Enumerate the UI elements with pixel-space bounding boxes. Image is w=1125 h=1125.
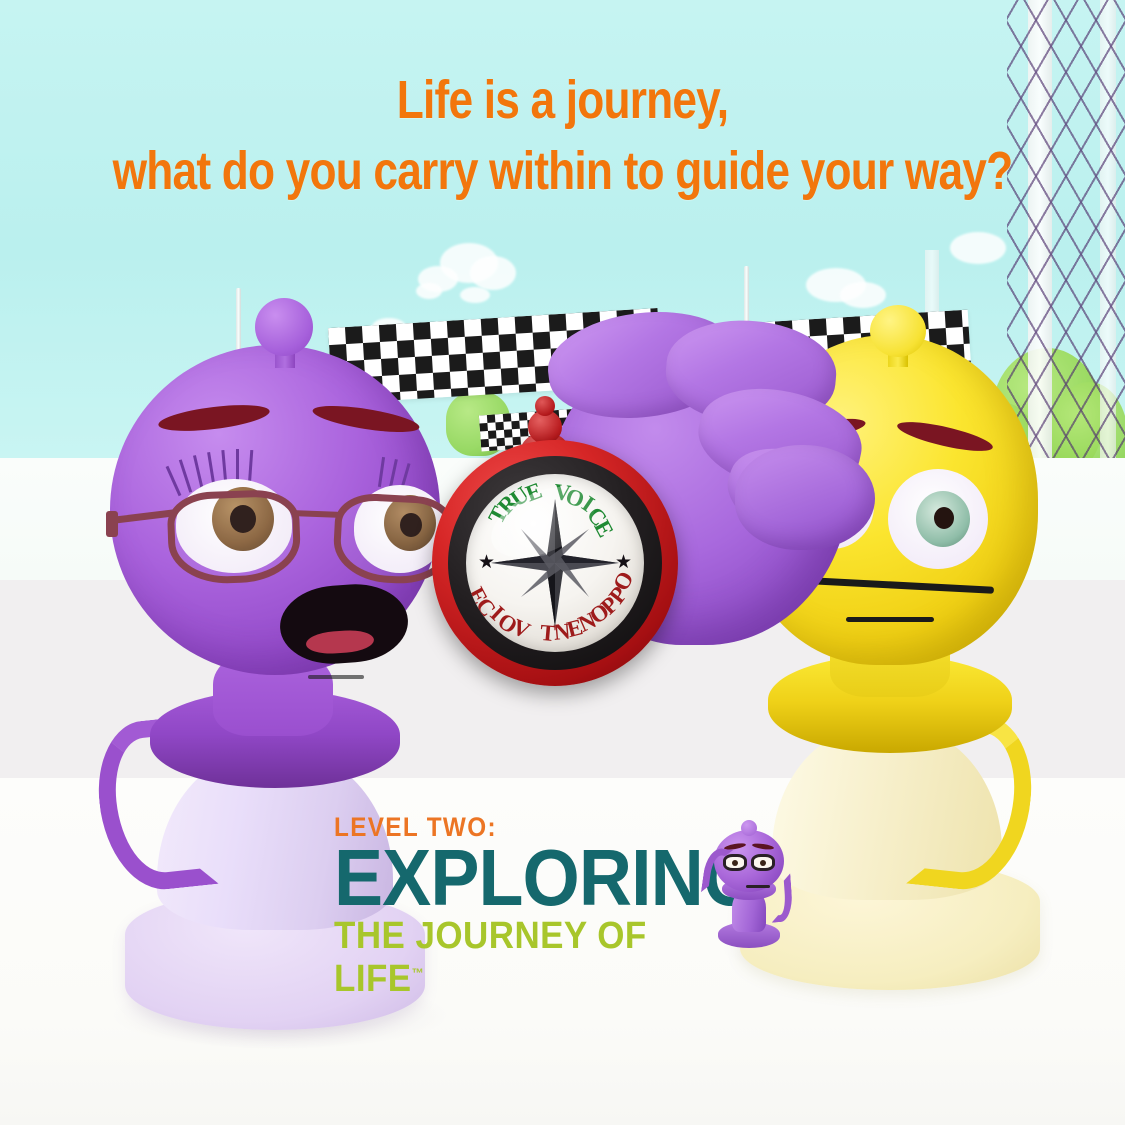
glasses-bridge (294, 510, 340, 518)
cloud-icon (470, 256, 516, 290)
chin-line (308, 675, 364, 679)
eyelash-icon (389, 459, 398, 487)
logo-main-label: EXPLORING (334, 844, 693, 913)
trademark-icon: ™ (412, 965, 424, 980)
cloud-icon (950, 232, 1006, 264)
compass-pendant-bulb (535, 396, 555, 416)
compass-rose-icon (485, 493, 625, 633)
compass-badge[interactable]: TRUE VOICE OPPONENT VOICE ★ ★ (432, 440, 678, 686)
mini-knob (741, 820, 757, 836)
mini-mouth (746, 885, 770, 888)
eyelash-icon (179, 459, 192, 492)
glasses-temple-hinge (106, 511, 118, 537)
pawn-head (110, 345, 440, 675)
logo-sub-label: THE JOURNEY OF LIFE (334, 915, 647, 1000)
mouth-open (277, 581, 410, 668)
compass-face: TRUE VOICE OPPONENT VOICE ★ ★ (466, 474, 644, 652)
eyebrow-right-icon (311, 401, 421, 438)
eyebrow-right-icon (895, 416, 995, 457)
eyebrow-left-icon (157, 400, 271, 435)
mini-eyebrow-right-icon (752, 842, 774, 850)
glasses-lens-left (166, 489, 301, 586)
pupil-right (934, 507, 954, 529)
mini-eye-left (732, 860, 738, 866)
mini-mascot[interactable] (700, 818, 800, 958)
fist-thumb (735, 445, 875, 550)
scene-canvas: TRUE VOICE OPPONENT VOICE ★ ★ (0, 0, 1125, 1125)
logo-sub-wrap: THE JOURNEY OF LIFE™ (334, 915, 693, 1001)
pawn-knob (255, 298, 313, 356)
program-logo[interactable]: LEVEL TWO: EXPLORING THE JOURNEY OF LIFE… (334, 812, 724, 1001)
eyelash-icon (378, 457, 385, 487)
mini-eye-right (760, 860, 766, 866)
eyelash-icon (166, 466, 182, 496)
